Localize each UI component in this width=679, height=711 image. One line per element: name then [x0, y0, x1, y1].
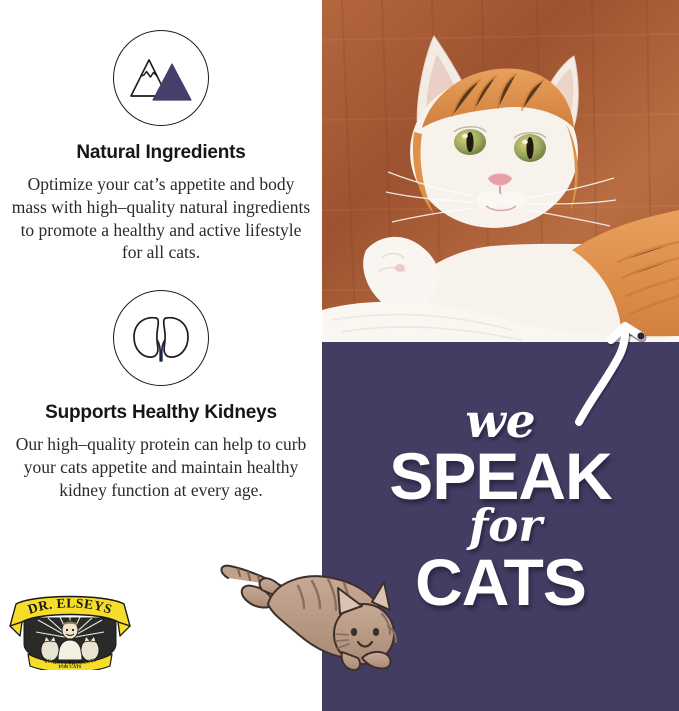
logo-ribbon-text-2: FOR CATS — [59, 664, 82, 669]
feature-body: Our high–quality protein can help to cur… — [0, 433, 322, 501]
feature-natural-ingredients: Natural Ingredients Optimize your cat’s … — [0, 30, 322, 264]
leaping-tabby-cat-illustration — [212, 542, 412, 672]
feature-title: Supports Healthy Kidneys — [0, 402, 322, 424]
mountains-icon — [113, 30, 209, 126]
feature-title: Natural Ingredients — [0, 142, 322, 164]
headline-line-we: we — [322, 398, 679, 445]
orange-white-cat-photo — [322, 0, 679, 342]
kidneys-icon — [113, 290, 209, 386]
ad-page: Natural Ingredients Optimize your cat’s … — [0, 0, 679, 711]
feature-supports-healthy-kidneys: Supports Healthy Kidneys Our high–qualit… — [0, 290, 322, 501]
feature-body: Optimize your cat’s appetite and body ma… — [0, 173, 322, 264]
dr-elseys-logo: DR. ELSEYS QUALITY PRODUCTS FOR CATS — [6, 592, 134, 670]
